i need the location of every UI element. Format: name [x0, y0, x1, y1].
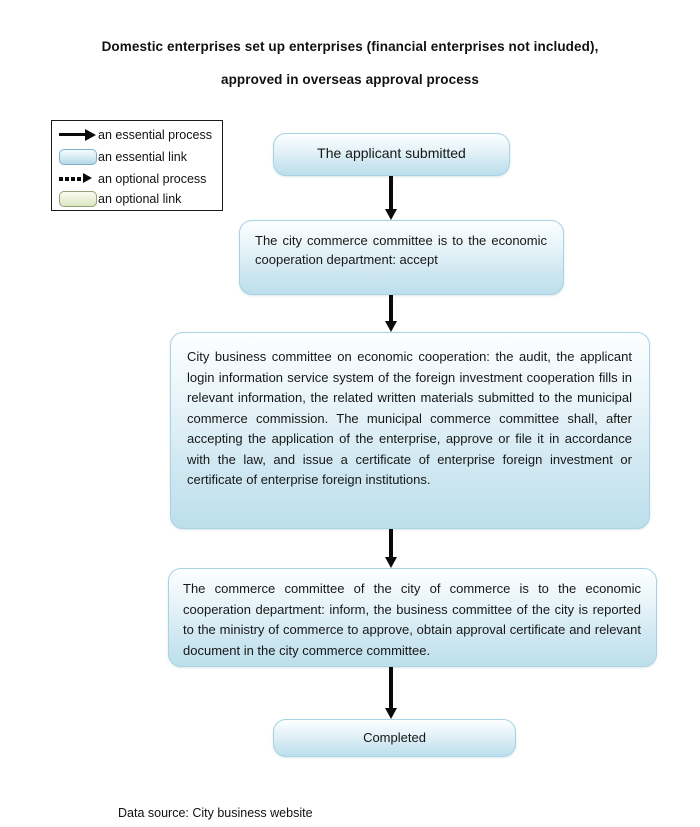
legend-label: an optional process — [98, 172, 206, 186]
page-title: Domestic enterprises set up enterprises … — [90, 30, 610, 96]
legend-item-optional-link: an optional link — [56, 188, 181, 210]
solid-arrow-icon — [56, 125, 98, 145]
connector-arrow-audit-to-inform — [389, 529, 393, 558]
flow-node-text: The city commerce committee is to the ec… — [255, 231, 547, 269]
legend-box: an essential process an essential link a… — [51, 120, 223, 211]
flow-node-text: City business committee on economic coop… — [187, 347, 632, 491]
flow-node-inform: The commerce committee of the city of co… — [168, 568, 657, 667]
flow-node-text: The commerce committee of the city of co… — [183, 579, 641, 661]
connector-arrow-applicant-to-accept — [389, 176, 393, 210]
optional-link-swatch-icon — [56, 189, 98, 209]
legend-item-essential-process: an essential process — [56, 124, 212, 146]
connector-arrow-accept-to-audit — [389, 295, 393, 322]
essential-link-swatch-icon — [56, 147, 98, 167]
flow-node-text: The applicant submitted — [274, 145, 509, 161]
dotted-arrow-icon — [56, 169, 98, 189]
connector-arrow-inform-to-completed — [389, 667, 393, 709]
flow-node-audit: City business committee on economic coop… — [170, 332, 650, 529]
flow-node-applicant-submitted: The applicant submitted — [273, 133, 510, 176]
legend-label: an essential link — [98, 150, 187, 164]
flow-node-completed: Completed — [273, 719, 516, 757]
legend-item-essential-link: an essential link — [56, 146, 187, 168]
legend-item-optional-process: an optional process — [56, 168, 206, 190]
legend-label: an optional link — [98, 192, 181, 206]
source-note: Data source: City business website — [118, 806, 313, 820]
flow-node-text: Completed — [274, 730, 515, 745]
flow-node-accept: The city commerce committee is to the ec… — [239, 220, 564, 295]
legend-label: an essential process — [98, 128, 212, 142]
